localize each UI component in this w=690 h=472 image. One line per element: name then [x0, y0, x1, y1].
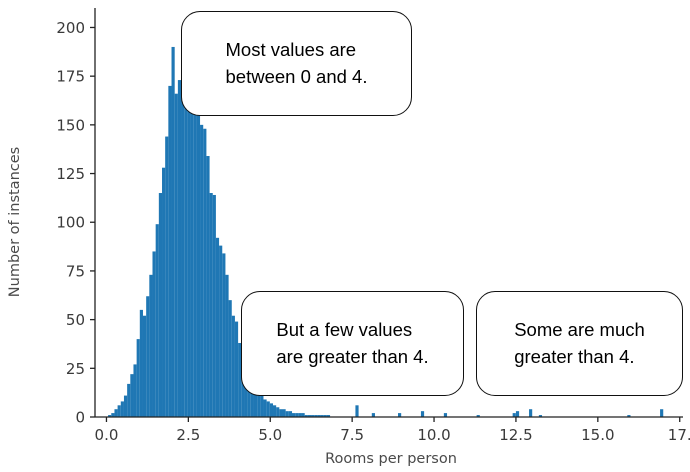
- histogram-bar: [216, 238, 219, 417]
- histogram-bar: [133, 364, 136, 417]
- y-tick-label: 150: [56, 116, 85, 134]
- histogram-bar: [229, 300, 232, 417]
- histogram-bar: [194, 80, 197, 417]
- histogram-bar: [276, 407, 279, 417]
- annotation-most-values: Most values are between 0 and 4.: [181, 11, 412, 116]
- x-tick-label: 15.0: [581, 426, 614, 444]
- histogram-bar: [172, 47, 175, 417]
- histogram-bar: [159, 193, 162, 417]
- annotation-few-values: But a few values are greater than 4.: [241, 291, 464, 396]
- histogram-bar: [156, 224, 159, 417]
- histogram-bar: [355, 405, 358, 417]
- histogram-bar: [260, 394, 263, 417]
- y-axis-label: Number of instances: [7, 147, 23, 297]
- histogram-bar: [232, 316, 235, 417]
- histogram-bar: [263, 399, 266, 417]
- y-tick-label: 0: [75, 409, 85, 427]
- histogram-bar: [219, 246, 222, 417]
- histogram-bar: [289, 411, 292, 417]
- histogram-bar: [213, 195, 216, 417]
- histogram-bar: [162, 168, 165, 417]
- y-tick-label: 125: [56, 165, 85, 183]
- histogram-bar: [121, 401, 124, 417]
- histogram-bar: [206, 156, 209, 417]
- histogram-bar: [178, 80, 181, 417]
- annotation-most-values-text: Most values are between 0 and 4.: [226, 37, 368, 91]
- annotation-much-greater-text: Some are much greater than 4.: [514, 317, 645, 371]
- y-tick-label: 75: [66, 262, 85, 280]
- y-tick-label: 200: [56, 19, 85, 37]
- x-tick-label: 2.5: [176, 426, 200, 444]
- histogram-bar: [225, 275, 228, 417]
- histogram-bar: [137, 339, 140, 417]
- annotation-much-greater: Some are much greater than 4.: [476, 291, 683, 396]
- x-tick-label: 0.0: [95, 426, 119, 444]
- x-tick-label: 17.: [668, 426, 690, 444]
- histogram-bar: [270, 403, 273, 417]
- histogram-bar: [222, 253, 225, 417]
- histogram-bar: [286, 411, 289, 417]
- x-tick-label: 7.5: [340, 426, 364, 444]
- y-tick-label: 100: [56, 214, 85, 232]
- x-axis-label: Rooms per person: [325, 451, 457, 467]
- histogram-bar: [181, 76, 184, 417]
- histogram-bar: [200, 125, 203, 417]
- histogram-bar: [168, 86, 171, 417]
- x-tick-label: 5.0: [258, 426, 282, 444]
- histogram-bar: [203, 129, 206, 417]
- histogram-bar: [146, 296, 149, 417]
- histogram-bar: [114, 409, 117, 417]
- histogram-bar: [143, 316, 146, 417]
- y-tick-label: 50: [66, 311, 85, 329]
- histogram-bar: [279, 409, 282, 417]
- histogram-bar: [149, 275, 152, 417]
- histogram-bar: [127, 384, 130, 417]
- histogram-bar: [124, 396, 127, 417]
- x-axis-ticks: 0.02.55.07.510.012.515.017.: [95, 417, 690, 444]
- histogram-bar: [130, 374, 133, 417]
- histogram-bar: [140, 310, 143, 417]
- histogram-bar: [210, 193, 213, 417]
- histogram-bar: [118, 405, 121, 417]
- histogram-bar: [267, 401, 270, 417]
- histogram-figure: 0.02.55.07.510.012.515.017. 025507510012…: [0, 0, 690, 472]
- y-tick-label: 175: [56, 68, 85, 86]
- x-tick-label: 10.0: [417, 426, 450, 444]
- annotation-few-values-text: But a few values are greater than 4.: [276, 317, 428, 371]
- histogram-bar: [283, 409, 286, 417]
- y-tick-label: 25: [66, 360, 85, 378]
- histogram-bar: [175, 94, 178, 417]
- histogram-bar: [152, 251, 155, 417]
- histogram-bar: [421, 411, 424, 417]
- histogram-bar: [529, 409, 532, 417]
- histogram-bar: [516, 411, 519, 417]
- x-tick-label: 12.5: [499, 426, 532, 444]
- histogram-bar: [273, 405, 276, 417]
- histogram-bar: [235, 322, 238, 417]
- histogram-bar: [660, 409, 663, 417]
- histogram-bar: [165, 137, 168, 417]
- y-axis-ticks: 0255075100125150175200: [56, 19, 95, 427]
- histogram-bar: [197, 90, 200, 417]
